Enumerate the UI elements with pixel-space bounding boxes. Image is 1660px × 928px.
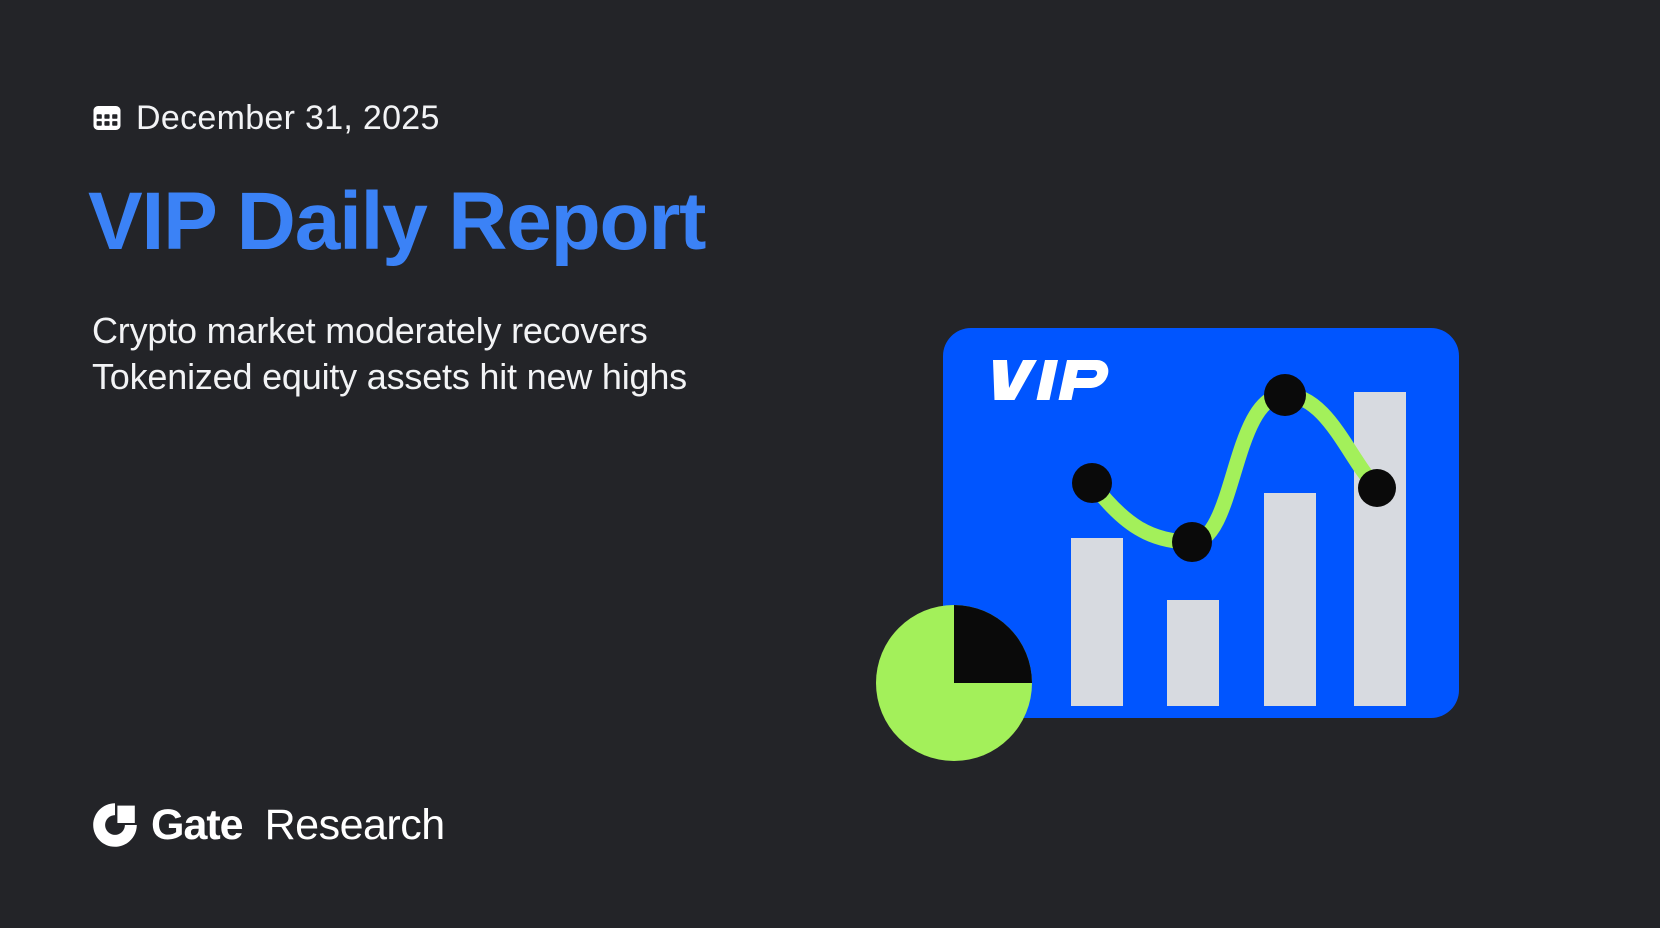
- bar-3: [1264, 493, 1316, 706]
- subtitle-block: Crypto market moderately recovers Tokeni…: [92, 308, 687, 400]
- bar-4: [1354, 392, 1406, 706]
- calendar-icon: [92, 103, 122, 133]
- subtitle-line-2: Tokenized equity assets hit new highs: [92, 354, 687, 400]
- poster-canvas: December 31, 2025 VIP Daily Report Crypt…: [0, 0, 1660, 928]
- data-point-4: [1358, 469, 1396, 507]
- data-point-3: [1264, 374, 1306, 416]
- bar-2: [1167, 600, 1219, 706]
- brand-lockup: Gate Research: [92, 802, 445, 848]
- date-row: December 31, 2025: [92, 101, 440, 135]
- brand-suffix: Research: [265, 804, 445, 847]
- subtitle-line-1: Crypto market moderately recovers: [92, 308, 687, 354]
- data-point-2: [1172, 522, 1212, 562]
- gate-logo-icon: [92, 802, 138, 848]
- brand-name: Gate: [151, 804, 243, 847]
- bar-1: [1071, 538, 1123, 706]
- data-point-1: [1072, 463, 1112, 503]
- accent-circle: [876, 605, 1032, 761]
- report-date: December 31, 2025: [136, 101, 440, 135]
- vip-chart-illustration: [876, 320, 1476, 770]
- page-title: VIP Daily Report: [88, 178, 705, 267]
